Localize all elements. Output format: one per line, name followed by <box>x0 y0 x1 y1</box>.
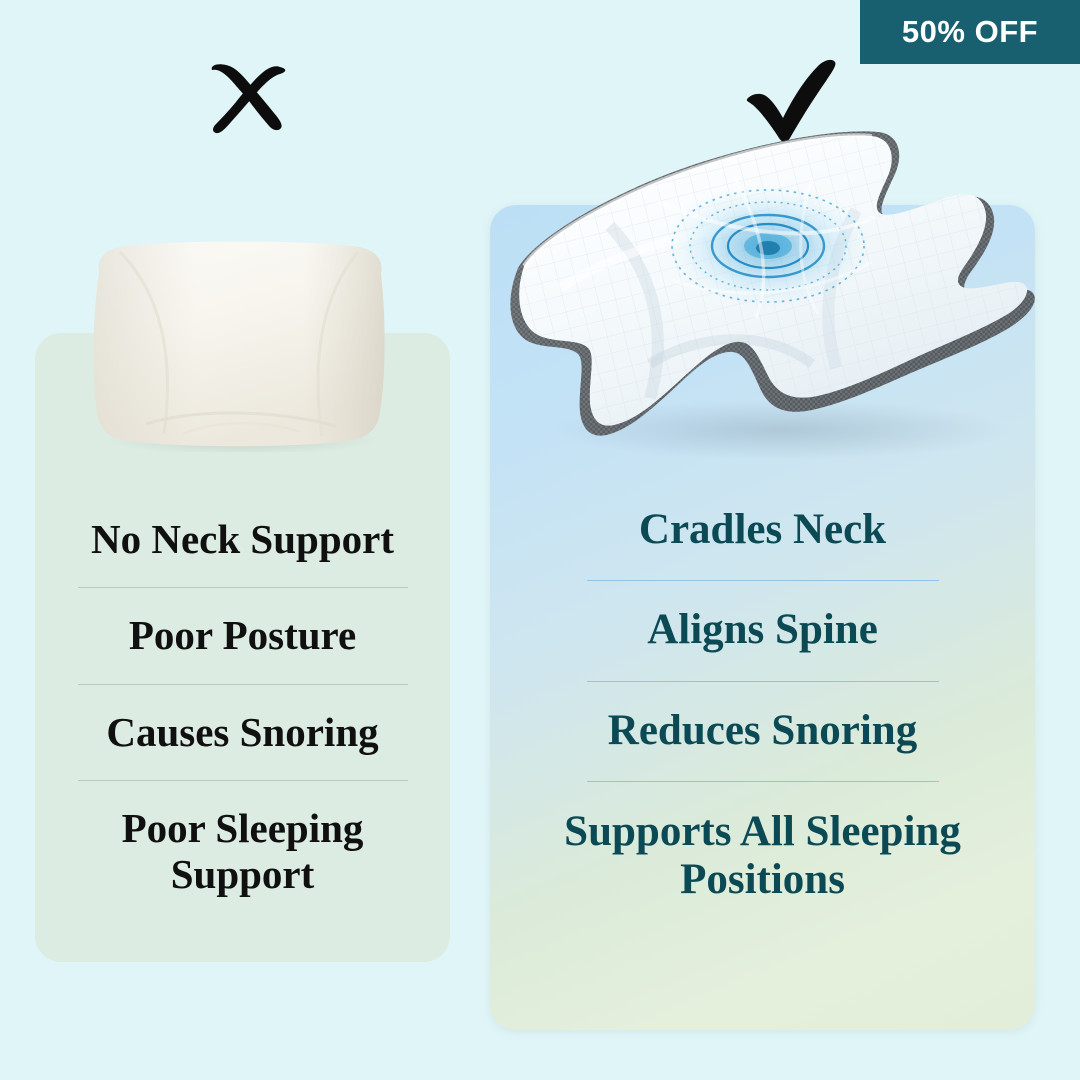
list-divider <box>78 780 408 781</box>
good-feature-item: Cradles Neck <box>490 495 1035 566</box>
list-divider <box>587 681 939 682</box>
discount-badge: 50% OFF <box>860 0 1080 64</box>
discount-badge-label: 50% OFF <box>902 14 1038 50</box>
plain-pillow-image <box>86 238 392 452</box>
good-feature-item: Aligns Spine <box>490 595 1035 666</box>
list-divider <box>78 684 408 685</box>
bad-feature-item: No Neck Support <box>35 505 450 574</box>
list-divider <box>78 587 408 588</box>
good-feature-item: Supports All Sleeping Positions <box>490 796 1035 917</box>
ergonomic-contour-pillow-image <box>500 118 1045 468</box>
bad-feature-item: Poor Sleeping Support <box>35 794 450 911</box>
bad-feature-list: No Neck Support Poor Posture Causes Snor… <box>35 505 450 911</box>
list-divider <box>587 781 939 782</box>
good-feature-item: Reduces Snoring <box>490 696 1035 767</box>
bad-feature-item: Poor Posture <box>35 601 450 670</box>
bad-feature-item: Causes Snoring <box>35 698 450 767</box>
good-feature-list: Cradles Neck Aligns Spine Reduces Snorin… <box>490 495 1035 918</box>
x-mark-icon <box>200 58 292 138</box>
list-divider <box>587 580 939 581</box>
